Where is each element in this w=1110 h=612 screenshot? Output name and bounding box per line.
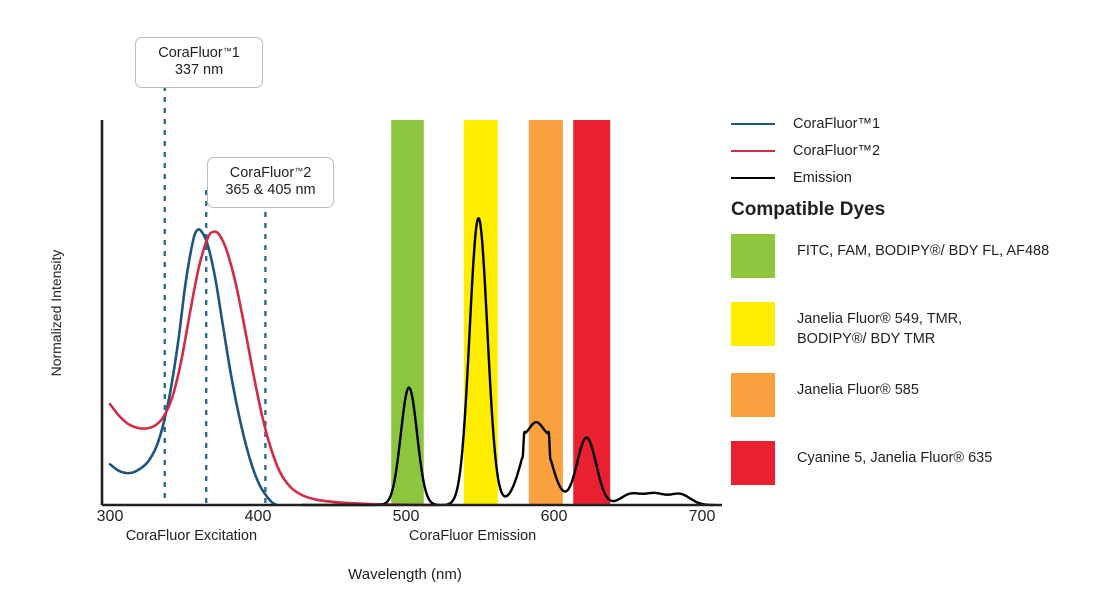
dye-color-swatch xyxy=(731,302,775,346)
legend: CoraFluor™1CoraFluor™2Emission xyxy=(731,110,1091,191)
x-tick-600: 600 xyxy=(524,508,584,526)
legend-item-2: CoraFluor™2 xyxy=(731,137,1091,164)
dye-item-3: Janelia Fluor® 585 xyxy=(731,373,1101,417)
x-tick-300: 300 xyxy=(80,508,140,526)
callout-2-line2: 365 & 405 nm xyxy=(218,182,323,199)
y-axis-title: Normalized Intensity xyxy=(48,228,64,398)
compatible-dyes-list: FITC, FAM, BODIPY®/ BDY FL, AF488Janelia… xyxy=(731,234,1101,509)
spectral-figure: CoraFluor™1 337 nm CoraFluor™2 365 & 405… xyxy=(0,0,1110,612)
trademark-symbol: ™ xyxy=(294,166,303,176)
dye-color-swatch xyxy=(731,234,775,278)
yellow-band xyxy=(464,120,498,505)
dye-label-line1: FITC, FAM, BODIPY®/ BDY FL, AF488 xyxy=(797,242,1049,262)
dye-color-swatch xyxy=(731,373,775,417)
x-tick-700: 700 xyxy=(672,508,732,526)
dye-item-label: Janelia Fluor® 585 xyxy=(797,373,919,401)
compatible-dyes-title: Compatible Dyes xyxy=(731,199,885,221)
legend-line-swatch xyxy=(731,123,775,125)
callout-corafluor-2: CoraFluor™2 365 & 405 nm xyxy=(207,157,334,208)
legend-item-3: Emission xyxy=(731,164,1091,191)
callout-2-line1: CoraFluor™2 xyxy=(218,165,323,182)
x-tick-400: 400 xyxy=(228,508,288,526)
callout-corafluor-1: CoraFluor™1 337 nm xyxy=(135,37,263,88)
legend-item-1: CoraFluor™1 xyxy=(731,110,1091,137)
dye-color-swatch xyxy=(731,441,775,485)
orange-band xyxy=(529,120,563,505)
dye-item-label: Cyanine 5, Janelia Fluor® 635 xyxy=(797,441,992,469)
legend-line-swatch xyxy=(731,177,775,179)
legend-line-swatch xyxy=(731,150,775,152)
dye-item-label: FITC, FAM, BODIPY®/ BDY FL, AF488 xyxy=(797,234,1049,262)
dye-label-line1: Janelia Fluor® 549, TMR, xyxy=(797,310,962,330)
legend-item-label: CoraFluor™1 xyxy=(793,116,880,132)
dye-label-line2: BODIPY®/ BDY TMR xyxy=(797,330,962,350)
callout-1-line2: 337 nm xyxy=(146,62,252,79)
dye-item-2: Janelia Fluor® 549, TMR,BODIPY®/ BDY TMR xyxy=(731,302,1101,349)
dye-item-1: FITC, FAM, BODIPY®/ BDY FL, AF488 xyxy=(731,234,1101,278)
dye-label-line1: Janelia Fluor® 585 xyxy=(797,381,919,401)
axis-section-excitation: CoraFluor Excitation xyxy=(81,528,301,544)
axis-section-emission: CoraFluor Emission xyxy=(363,528,583,544)
x-tick-500: 500 xyxy=(376,508,436,526)
legend-item-label: CoraFluor™2 xyxy=(793,143,880,159)
callout-1-line1: CoraFluor™1 xyxy=(146,45,252,62)
x-axis-title: Wavelength (nm) xyxy=(0,566,810,583)
legend-item-label: Emission xyxy=(793,170,852,186)
dye-item-label: Janelia Fluor® 549, TMR,BODIPY®/ BDY TMR xyxy=(797,302,962,349)
curve-emission xyxy=(302,218,713,505)
trademark-symbol: ™ xyxy=(223,46,232,56)
dye-label-line1: Cyanine 5, Janelia Fluor® 635 xyxy=(797,449,992,469)
dye-item-4: Cyanine 5, Janelia Fluor® 635 xyxy=(731,441,1101,485)
curve-corafluor-2 xyxy=(110,232,436,505)
